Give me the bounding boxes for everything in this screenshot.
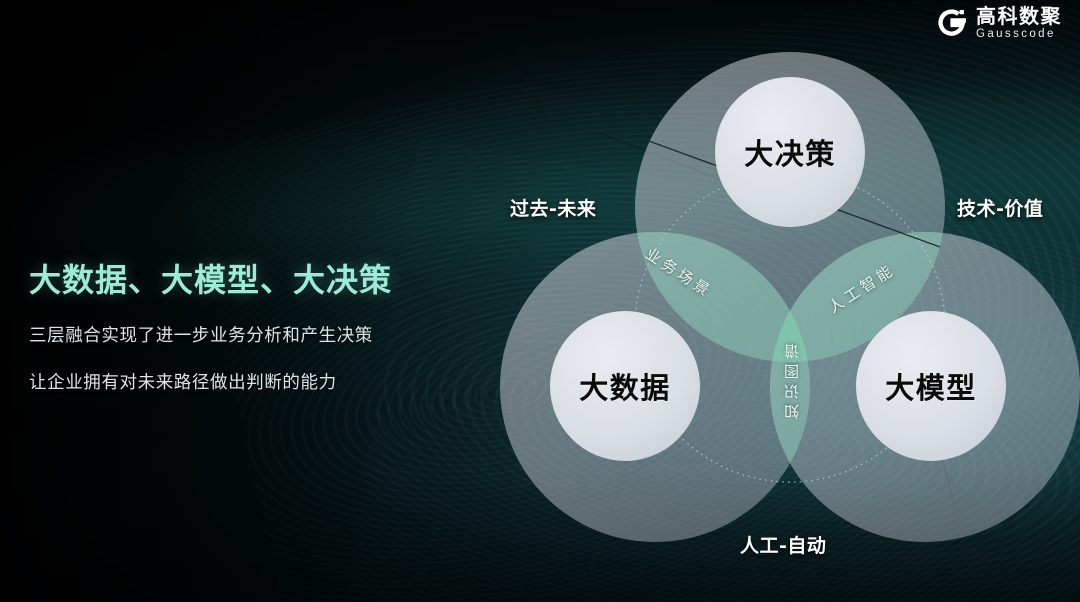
page-title: 大数据、大模型、大决策 <box>29 255 459 301</box>
venn-diagram <box>500 15 1080 575</box>
subtitle-line-2: 让企业拥有对未来路径做出判断的能力 <box>29 369 459 394</box>
subtitle-line-1: 三层融合实现了进一步业务分析和产生决策 <box>29 322 459 347</box>
venn-caption-past-future: 过去-未来 <box>510 194 596 221</box>
slide-canvas: 高科数聚 Gausscode 大数据、大模型、大决策 三层融合实现了进一步业务分… <box>0 0 1080 602</box>
venn-core-label-bigdata: 大数据 <box>579 365 671 407</box>
venn-core-label-decision: 大决策 <box>744 131 836 173</box>
venn-caption-manual-auto: 人工-自动 <box>740 531 826 558</box>
venn-core-label-bigmodel: 大模型 <box>885 365 977 407</box>
headline-block: 大数据、大模型、大决策 三层融合实现了进一步业务分析和产生决策 让企业拥有对未来… <box>29 255 459 394</box>
venn-overlap-label-knowledge-graph: 知识图谱 <box>781 339 802 419</box>
venn-caption-tech-value: 技术-价值 <box>957 194 1043 221</box>
